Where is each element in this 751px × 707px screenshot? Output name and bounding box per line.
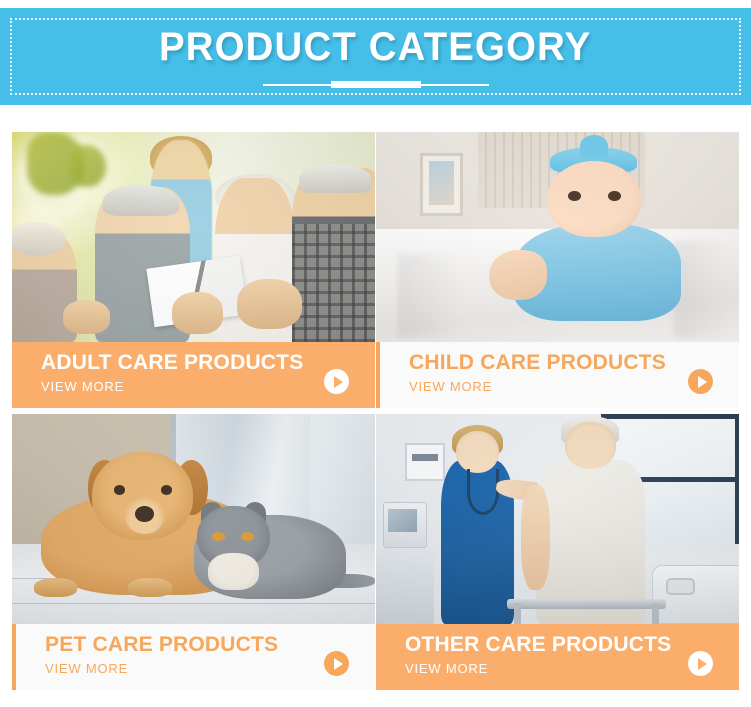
play-icon[interactable]: [688, 651, 713, 676]
underline-thick-segment: [331, 81, 421, 88]
product-category-page: PRODUCT CATEGORY: [0, 0, 751, 707]
pet-care-label[interactable]: PET CARE PRODUCTS VIEW MORE: [12, 624, 375, 690]
pet-care-title: PET CARE PRODUCTS: [45, 633, 375, 657]
category-card-other-care[interactable]: OTHER CARE PRODUCTS VIEW MORE: [376, 414, 739, 690]
other-care-title: OTHER CARE PRODUCTS: [405, 633, 739, 657]
adult-care-title: ADULT CARE PRODUCTS: [41, 351, 375, 375]
adult-care-label[interactable]: ADULT CARE PRODUCTS VIEW MORE: [12, 342, 375, 408]
other-care-label[interactable]: OTHER CARE PRODUCTS VIEW MORE: [376, 624, 739, 690]
child-care-label[interactable]: CHILD CARE PRODUCTS VIEW MORE: [376, 342, 739, 408]
category-card-adult-care[interactable]: ADULT CARE PRODUCTS VIEW MORE: [12, 132, 375, 408]
play-icon[interactable]: [688, 369, 713, 394]
child-care-photo: [376, 132, 739, 342]
pet-care-photo: [12, 414, 375, 624]
play-icon[interactable]: [324, 369, 349, 394]
page-header-banner: PRODUCT CATEGORY: [0, 8, 751, 105]
category-card-child-care[interactable]: CHILD CARE PRODUCTS VIEW MORE: [376, 132, 739, 408]
category-card-grid: ADULT CARE PRODUCTS VIEW MORE: [12, 132, 739, 690]
adult-care-photo: [12, 132, 375, 342]
child-care-title: CHILD CARE PRODUCTS: [409, 351, 739, 375]
title-underline-decoration: [263, 81, 489, 88]
category-card-pet-care[interactable]: PET CARE PRODUCTS VIEW MORE: [12, 414, 375, 690]
play-icon[interactable]: [324, 651, 349, 676]
other-care-photo: [376, 414, 739, 624]
page-title: PRODUCT CATEGORY: [159, 27, 591, 67]
